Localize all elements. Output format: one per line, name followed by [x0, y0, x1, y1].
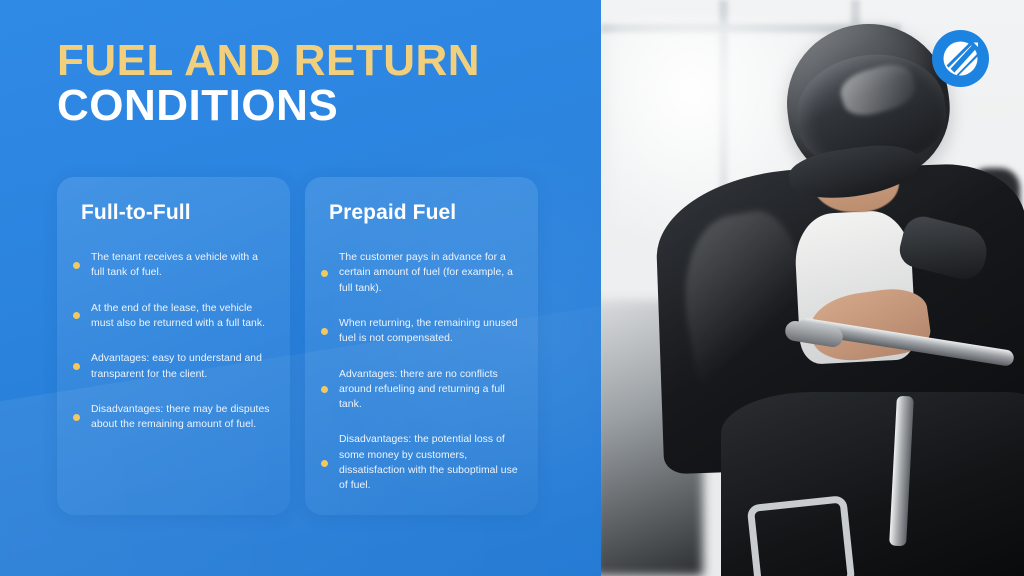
card-title: Prepaid Fuel [329, 201, 522, 224]
title-line-secondary: CONDITIONS [57, 83, 577, 128]
title-line-primary: FUEL AND RETURN [57, 38, 577, 83]
bullet-list: The customer pays in advance for a certa… [321, 250, 522, 494]
list-item: When returning, the remaining unused fue… [321, 316, 522, 347]
list-item: Disadvantages: the potential loss of som… [321, 432, 522, 493]
bullet-dot-icon [321, 460, 328, 467]
list-item: The tenant receives a vehicle with a ful… [73, 250, 274, 281]
list-item: At the end of the lease, the vehicle mus… [73, 301, 274, 332]
bullet-dot-icon [73, 262, 80, 269]
comparison-cards: Full-to-Full The tenant receives a vehic… [57, 177, 552, 515]
list-item: Advantages: easy to understand and trans… [73, 351, 274, 382]
bullet-text: The customer pays in advance for a certa… [339, 250, 522, 296]
bullet-dot-icon [321, 328, 328, 335]
bullet-dot-icon [73, 312, 80, 319]
bullet-text: Disadvantages: there may be disputes abo… [91, 402, 274, 433]
card-full-to-full: Full-to-Full The tenant receives a vehic… [57, 177, 290, 515]
bullet-list: The tenant receives a vehicle with a ful… [73, 250, 274, 432]
bullet-dot-icon [321, 270, 328, 277]
bullet-dot-icon [321, 386, 328, 393]
bullet-text: Disadvantages: the potential loss of som… [339, 432, 522, 493]
bullet-text: At the end of the lease, the vehicle mus… [91, 301, 274, 332]
photo-bike-frame [747, 495, 856, 576]
bullet-text: Advantages: there are no conflicts aroun… [339, 367, 522, 413]
list-item: Disadvantages: there may be disputes abo… [73, 402, 274, 433]
card-prepaid-fuel: Prepaid Fuel The customer pays in advanc… [305, 177, 538, 515]
presentation-slide: FUEL AND RETURN CONDITIONS Full-to-Full … [0, 0, 1024, 576]
list-item: The customer pays in advance for a certa… [321, 250, 522, 296]
card-title: Full-to-Full [81, 201, 274, 224]
brand-logo-icon[interactable] [932, 30, 989, 87]
bullet-text: The tenant receives a vehicle with a ful… [91, 250, 274, 281]
bullet-text: Advantages: easy to understand and trans… [91, 351, 274, 382]
page-title: FUEL AND RETURN CONDITIONS [57, 38, 577, 129]
list-item: Advantages: there are no conflicts aroun… [321, 367, 522, 413]
bullet-dot-icon [73, 363, 80, 370]
bullet-dot-icon [73, 414, 80, 421]
bullet-text: When returning, the remaining unused fue… [339, 316, 522, 347]
